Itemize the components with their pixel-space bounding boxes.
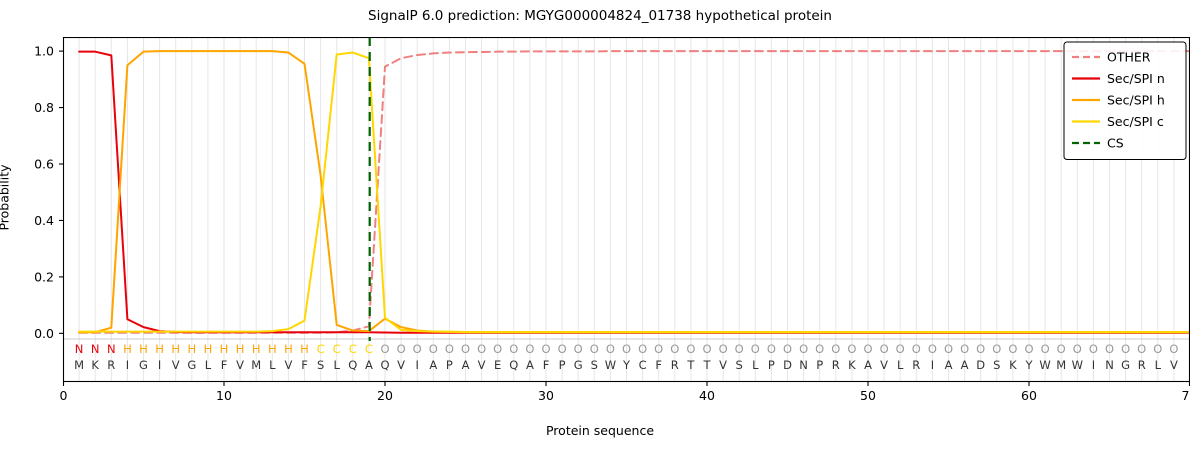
residue-letter: R bbox=[107, 358, 115, 372]
legend-item-label[interactable]: CS bbox=[1107, 136, 1124, 151]
x-tick-label: 20 bbox=[377, 388, 393, 403]
region-code-letter: H bbox=[139, 342, 148, 356]
residue-letter: S bbox=[993, 358, 1000, 372]
residue-letter: F bbox=[655, 358, 662, 372]
region-code-letter: O bbox=[541, 342, 550, 356]
region-code-letter: O bbox=[380, 342, 389, 356]
region-code-letter: H bbox=[187, 342, 196, 356]
residue-letter: T bbox=[686, 358, 695, 372]
y-tick-label: 0.8 bbox=[34, 100, 54, 115]
residue-letter: R bbox=[832, 358, 840, 372]
residue-letter: Q bbox=[348, 358, 357, 372]
residue-letter: D bbox=[976, 358, 985, 372]
residue-letter: I bbox=[415, 358, 418, 372]
region-code-letter: H bbox=[204, 342, 213, 356]
residue-letter: Y bbox=[622, 358, 631, 372]
region-code-letter: O bbox=[1121, 342, 1130, 356]
region-code-letter: O bbox=[880, 342, 889, 356]
x-tick-label: 60 bbox=[1021, 388, 1037, 403]
residue-letter: M bbox=[74, 358, 84, 372]
sequence-strip: NMNKNRHIHGHIHVHGHLHFHVHMHLHVHFCSCLCQCAOQ… bbox=[63, 339, 1190, 372]
residue-letter: W bbox=[605, 358, 616, 372]
region-code-letter: H bbox=[284, 342, 293, 356]
legend-item-label[interactable]: Sec/SPI h bbox=[1107, 93, 1165, 108]
region-code-letter: O bbox=[525, 342, 534, 356]
region-code-letter: O bbox=[670, 342, 679, 356]
region-code-letter: O bbox=[493, 342, 502, 356]
region-code-letter: O bbox=[477, 342, 486, 356]
residue-letter: F bbox=[543, 358, 550, 372]
residue-letter: V bbox=[478, 358, 486, 372]
residue-letter: V bbox=[236, 358, 244, 372]
region-code-letter: C bbox=[349, 342, 357, 356]
region-code-letter: H bbox=[252, 342, 261, 356]
y-tick-label: 0.0 bbox=[34, 326, 54, 341]
region-code-letter: O bbox=[976, 342, 985, 356]
region-code-letter: O bbox=[1169, 342, 1178, 356]
region-code-letter: O bbox=[1153, 342, 1162, 356]
region-code-letter: O bbox=[413, 342, 422, 356]
x-tick-label: 0 bbox=[60, 388, 68, 403]
residue-letter: I bbox=[1092, 358, 1095, 372]
series-line bbox=[79, 51, 1190, 333]
region-code-letter: H bbox=[268, 342, 277, 356]
residue-letter: K bbox=[848, 358, 856, 372]
residue-letter: M bbox=[1056, 358, 1066, 372]
residue-letter: R bbox=[1138, 358, 1146, 372]
series-lines bbox=[79, 51, 1190, 333]
region-code-letter: O bbox=[944, 342, 953, 356]
residue-letter: A bbox=[462, 358, 470, 372]
residue-letter: W bbox=[1072, 358, 1083, 372]
residue-letter: F bbox=[221, 358, 228, 372]
region-code-letter: O bbox=[992, 342, 1001, 356]
residue-letter: M bbox=[251, 358, 261, 372]
region-code-letter: O bbox=[960, 342, 969, 356]
region-code-letter: O bbox=[847, 342, 856, 356]
residue-letter: A bbox=[526, 358, 534, 372]
residue-letter: I bbox=[931, 358, 934, 372]
residue-letter: L bbox=[897, 358, 904, 372]
signalp-prediction-figure: SignalP 6.0 prediction: MGYG000004824_01… bbox=[0, 0, 1200, 450]
residue-letter: A bbox=[429, 358, 437, 372]
residue-letter: V bbox=[719, 358, 727, 372]
region-code-letter: O bbox=[1105, 342, 1114, 356]
residue-letter: G bbox=[574, 358, 583, 372]
region-code-letter: H bbox=[123, 342, 132, 356]
region-code-letter: H bbox=[300, 342, 309, 356]
residue-letter: T bbox=[702, 358, 711, 372]
region-code-letter: O bbox=[863, 342, 872, 356]
residue-letter: A bbox=[864, 358, 872, 372]
residue-letter: K bbox=[1009, 358, 1017, 372]
plot-area: NMNKNRHIHGHIHVHGHLHFHVHMHLHVHFCSCLCQCAOQ… bbox=[3, 37, 1130, 382]
region-code-letter: O bbox=[606, 342, 615, 356]
region-code-letter: O bbox=[751, 342, 760, 356]
x-tick-label: 40 bbox=[699, 388, 715, 403]
residue-letter: P bbox=[559, 358, 566, 372]
residue-letter: I bbox=[126, 358, 129, 372]
grid-lines bbox=[79, 37, 1190, 382]
legend[interactable]: OTHERSec/SPI nSec/SPI hSec/SPI cCS bbox=[1064, 42, 1186, 160]
residue-letter: G bbox=[139, 358, 148, 372]
region-code-letter: O bbox=[719, 342, 728, 356]
residue-letter: P bbox=[446, 358, 453, 372]
residue-letter: N bbox=[1105, 358, 1114, 372]
region-code-letter: O bbox=[767, 342, 776, 356]
region-code-letter: O bbox=[1041, 342, 1050, 356]
region-code-letter: H bbox=[220, 342, 229, 356]
region-code-letter: H bbox=[171, 342, 180, 356]
residue-letter: G bbox=[1121, 358, 1130, 372]
region-code-letter: O bbox=[1057, 342, 1066, 356]
residue-letter: L bbox=[752, 358, 759, 372]
region-code-letter: O bbox=[1137, 342, 1146, 356]
residue-letter: W bbox=[1039, 358, 1050, 372]
residue-letter: C bbox=[639, 358, 647, 372]
region-code-letter: O bbox=[799, 342, 808, 356]
residue-letter: F bbox=[301, 358, 308, 372]
residue-letter: S bbox=[317, 358, 324, 372]
series-line bbox=[79, 52, 1190, 333]
region-code-letter: C bbox=[317, 342, 325, 356]
region-code-letter: O bbox=[1073, 342, 1082, 356]
region-code-letter: O bbox=[686, 342, 695, 356]
region-code-letter: O bbox=[590, 342, 599, 356]
x-tick-label: 50 bbox=[860, 388, 876, 403]
residue-letter: Q bbox=[380, 358, 389, 372]
region-code-letter: O bbox=[912, 342, 921, 356]
region-code-letter: O bbox=[896, 342, 905, 356]
y-tick-label: 0.2 bbox=[34, 269, 54, 284]
residue-letter: P bbox=[768, 358, 775, 372]
region-code-letter: O bbox=[574, 342, 583, 356]
x-tick-label: 30 bbox=[538, 388, 554, 403]
region-code-letter: O bbox=[702, 342, 711, 356]
region-code-letter: O bbox=[815, 342, 824, 356]
region-code-letter: O bbox=[654, 342, 663, 356]
residue-letter: V bbox=[397, 358, 405, 372]
series-line bbox=[79, 51, 1190, 332]
legend-item-label[interactable]: Sec/SPI n bbox=[1107, 71, 1165, 86]
residue-letter: E bbox=[494, 358, 501, 372]
legend-item-label[interactable]: Sec/SPI c bbox=[1107, 114, 1164, 129]
y-tick-label: 0.6 bbox=[34, 157, 54, 172]
x-axis-label: Protein sequence bbox=[0, 423, 1200, 438]
region-code-letter: H bbox=[155, 342, 164, 356]
region-code-letter: O bbox=[397, 342, 406, 356]
residue-letter: N bbox=[799, 358, 808, 372]
region-code-letter: O bbox=[928, 342, 937, 356]
residue-letter: R bbox=[912, 358, 920, 372]
region-code-letter: O bbox=[445, 342, 454, 356]
region-code-letter: C bbox=[333, 342, 341, 356]
residue-letter: V bbox=[880, 358, 888, 372]
region-code-letter: O bbox=[1089, 342, 1098, 356]
region-code-letter: O bbox=[735, 342, 744, 356]
region-code-letter: O bbox=[509, 342, 518, 356]
residue-letter: A bbox=[961, 358, 969, 372]
region-code-letter: O bbox=[831, 342, 840, 356]
region-code-letter: O bbox=[1008, 342, 1017, 356]
region-code-letter: H bbox=[236, 342, 245, 356]
residue-letter: V bbox=[1170, 358, 1178, 372]
y-tick-label: 0.4 bbox=[34, 213, 54, 228]
region-code-letter: O bbox=[638, 342, 647, 356]
residue-letter: V bbox=[172, 358, 180, 372]
residue-letter: Y bbox=[1024, 358, 1033, 372]
series-line bbox=[79, 53, 1190, 332]
region-code-letter: O bbox=[461, 342, 470, 356]
residue-letter: S bbox=[736, 358, 743, 372]
region-code-letter: O bbox=[783, 342, 792, 356]
residue-letter: P bbox=[816, 358, 823, 372]
residue-letter: G bbox=[187, 358, 196, 372]
region-code-letter: N bbox=[91, 342, 100, 356]
x-tick-label: 10 bbox=[216, 388, 232, 403]
residue-letter: A bbox=[365, 358, 373, 372]
legend-item-label[interactable]: OTHER bbox=[1107, 50, 1151, 65]
region-code-letter: C bbox=[365, 342, 373, 356]
residue-letter: V bbox=[284, 358, 292, 372]
residue-letter: K bbox=[91, 358, 99, 372]
region-code-letter: O bbox=[1024, 342, 1033, 356]
region-code-letter: N bbox=[107, 342, 116, 356]
residue-letter: L bbox=[205, 358, 212, 372]
page-title: SignalP 6.0 prediction: MGYG000004824_01… bbox=[0, 8, 1200, 24]
region-code-letter: N bbox=[75, 342, 84, 356]
residue-letter: A bbox=[945, 358, 953, 372]
region-code-letter: O bbox=[558, 342, 567, 356]
region-code-letter: O bbox=[622, 342, 631, 356]
y-tick-label: 1.0 bbox=[34, 44, 54, 59]
residue-letter: I bbox=[158, 358, 161, 372]
residue-letter: R bbox=[671, 358, 679, 372]
residue-letter: D bbox=[783, 358, 792, 372]
residue-letter: S bbox=[591, 358, 598, 372]
region-code-letter: O bbox=[429, 342, 438, 356]
residue-letter: L bbox=[333, 358, 340, 372]
residue-letter: Q bbox=[509, 358, 518, 372]
residue-letter: L bbox=[1155, 358, 1162, 372]
prediction-plot: NMNKNRHIHGHIHVHGHLHFHVHMHLHVHFCSCLCQCAOQ… bbox=[3, 37, 1190, 408]
x-tick-label: 70 bbox=[1182, 388, 1190, 403]
residue-letter: L bbox=[269, 358, 276, 372]
